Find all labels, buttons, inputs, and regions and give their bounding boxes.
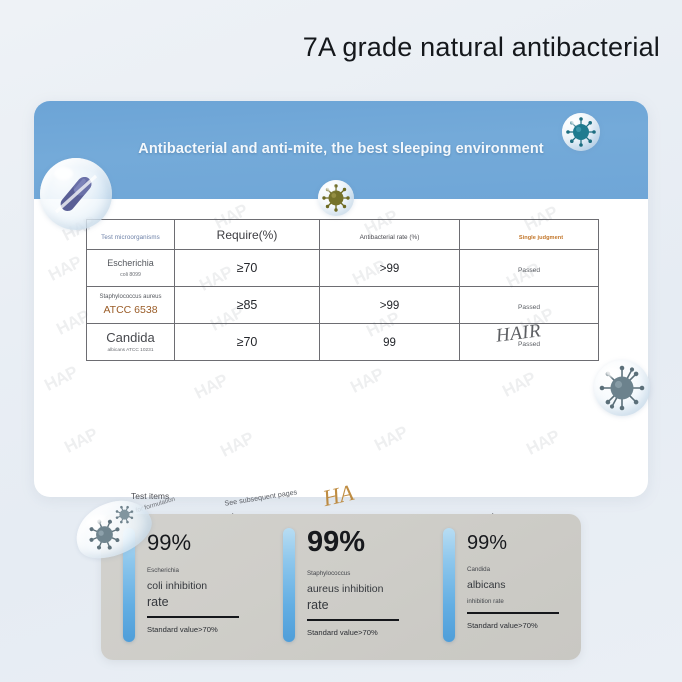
hap-watermark: HAP <box>61 424 101 457</box>
stat-body: 99% Escherichia coli inhibition rate Sta… <box>147 528 239 660</box>
gray-virus-icon <box>594 360 650 416</box>
judgment-value: Passed <box>518 341 540 348</box>
hap-watermark: HAP <box>45 252 85 285</box>
table-row: Staphylococcus aureus ATCC 6538 ≥85 >99 … <box>87 287 599 324</box>
stat-percent: 99% <box>467 533 559 553</box>
hap-watermark: HAP <box>499 368 539 401</box>
cell-rate: 99 <box>320 324 460 361</box>
cell-require: ≥85 <box>175 287 320 324</box>
cell-organism: Escherichia coli 8099 <box>87 250 175 287</box>
stat-body: 99% Staphylococcus aureus inhibition rat… <box>307 528 399 660</box>
th-microorganisms: Test microorganisms <box>87 220 175 250</box>
hap-watermark: HAP <box>523 426 563 459</box>
see-subsequent-pages-text: See subsequent pages <box>224 487 298 507</box>
stat-percent: 99% <box>307 528 399 557</box>
organism-name: Staphylococcus aureus <box>87 294 174 301</box>
hap-watermark: HAP <box>347 364 387 397</box>
judgment-value: Passed <box>518 267 540 274</box>
cell-require: ≥70 <box>175 250 320 287</box>
require-value: ≥70 <box>237 335 258 349</box>
stat-divider <box>307 619 399 621</box>
stat-percent: 99% <box>147 532 239 554</box>
cell-require: ≥70 <box>175 324 320 361</box>
organism-strain: albicans ATCC 10231 <box>87 348 174 353</box>
stat-line-2: albicans <box>467 579 559 591</box>
stat-line-3: rate <box>147 595 239 609</box>
test-results-table: Test microorganisms Require(%) Antibacte… <box>86 219 599 361</box>
hap-watermark: HAP <box>371 422 411 455</box>
cell-judgment: Passed <box>460 287 599 324</box>
th-microorganisms-label: Test microorganisms <box>101 234 160 241</box>
stat-bar <box>443 528 455 642</box>
table-row: Candida albicans ATCC 10231 ≥70 99 Passe… <box>87 324 599 361</box>
stat-bar <box>283 528 295 642</box>
stat-line-3: inhibition rate <box>467 598 559 605</box>
stat-body: 99% Candida albicans inhibition rate Sta… <box>467 528 559 660</box>
olive-virus-icon <box>318 180 354 216</box>
banner-title: Antibacterial and anti-mite, the best sl… <box>34 141 648 157</box>
rate-value: 99 <box>383 337 396 349</box>
page-title: 7A grade natural antibacterial <box>0 32 660 63</box>
stat-line-1: Candida <box>467 566 559 573</box>
rate-value: >99 <box>380 263 400 275</box>
promo-page: 7A grade natural antibacterial Antibacte… <box>0 0 682 682</box>
report-card: Antibacterial and anti-mite, the best sl… <box>34 101 648 497</box>
require-value: ≥70 <box>237 261 258 275</box>
organism-name: Escherichia <box>87 258 174 268</box>
stat-line-1: Staphylococcus <box>307 570 399 577</box>
cell-organism: Staphylococcus aureus ATCC 6538 <box>87 287 175 324</box>
th-judgment: Single judgment <box>460 220 599 250</box>
teal-virus-icon <box>562 113 600 151</box>
stat-line-2: aureus inhibition <box>307 583 399 595</box>
hap-watermark: HAP <box>217 428 257 461</box>
stat-standard: Standard value>70% <box>147 625 239 634</box>
th-judgment-label: Single judgment <box>519 235 563 241</box>
stat-staphylococcus: 99% Staphylococcus aureus inhibition rat… <box>261 514 421 660</box>
rate-value: >99 <box>380 300 400 312</box>
stat-candida: 99% Candida albicans inhibition rate Sta… <box>421 514 581 660</box>
table-header-row: Test microorganisms Require(%) Antibacte… <box>87 220 599 250</box>
organism-strain: ATCC 6538 <box>87 304 174 316</box>
capsule-bacterium-icon <box>40 158 112 230</box>
stat-line-1: Escherichia <box>147 567 239 574</box>
stat-standard: Standard value>70% <box>467 621 559 630</box>
cell-judgment: Passed <box>460 250 599 287</box>
hap-watermark: HAP <box>191 370 231 403</box>
cell-rate: >99 <box>320 250 460 287</box>
inhibition-stats-panel: 99% Escherichia coli inhibition rate Sta… <box>101 514 581 660</box>
th-rate: Antibacterial rate (%) <box>320 220 460 250</box>
th-require-label: Require(%) <box>217 228 278 242</box>
ha-watermark: HA <box>320 480 356 512</box>
cell-judgment: Passed <box>460 324 599 361</box>
stat-divider <box>147 616 239 618</box>
organism-name: Candida <box>87 331 174 346</box>
test-results-table-wrap: Test microorganisms Require(%) Antibacte… <box>86 219 598 361</box>
require-value: ≥85 <box>237 298 258 312</box>
hap-watermark: HAP <box>41 362 81 395</box>
stat-line-3: rate <box>307 598 399 612</box>
cell-rate: >99 <box>320 287 460 324</box>
judgment-value: Passed <box>518 304 540 311</box>
stat-divider <box>467 612 559 614</box>
stat-line-2: coli inhibition <box>147 580 239 592</box>
table-row: Escherichia coli 8099 ≥70 >99 Passed <box>87 250 599 287</box>
th-require: Require(%) <box>175 220 320 250</box>
cell-organism: Candida albicans ATCC 10231 <box>87 324 175 361</box>
organism-strain: coli 8099 <box>87 272 174 278</box>
th-rate-label: Antibacterial rate (%) <box>360 234 420 241</box>
stat-standard: Standard value>70% <box>307 628 399 637</box>
